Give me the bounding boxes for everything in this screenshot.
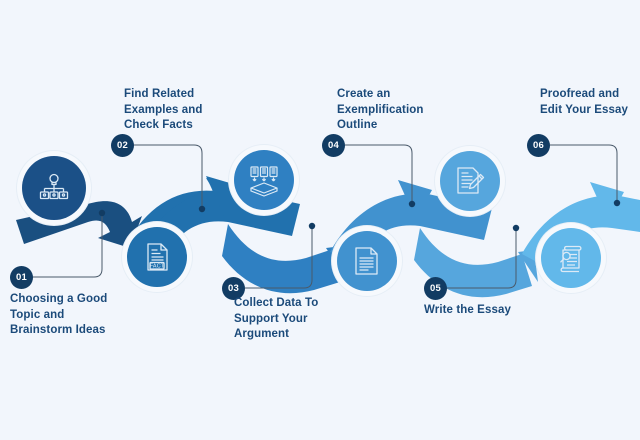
step-badge-01[interactable]: 01 — [10, 266, 33, 289]
outline-document-icon — [352, 246, 382, 276]
step-badge-05[interactable]: 05 — [424, 277, 447, 300]
connector-01 — [27, 213, 102, 277]
connector-02 — [133, 145, 202, 209]
step-badge-04-text: 04 — [328, 140, 339, 151]
step-label-01: Choosing a Good Topic and Brainstorm Ide… — [10, 292, 122, 339]
step-label-02: Find Related Examples and Check Facts — [124, 87, 224, 134]
exemplification-essay-infographic: FACT — [0, 0, 640, 440]
data-collection-books-icon — [247, 163, 281, 197]
connector-03 — [245, 226, 312, 288]
step-node-04[interactable] — [337, 231, 397, 291]
connector-04 — [345, 145, 412, 204]
step-badge-06-text: 06 — [533, 140, 544, 151]
step-badge-04[interactable]: 04 — [322, 134, 345, 157]
step-label-04: Create an Exemplification Outline — [337, 87, 433, 134]
fact-document-icon: FACT — [141, 241, 173, 273]
step-badge-01-text: 01 — [16, 272, 27, 283]
connector-05 — [447, 228, 516, 288]
step-label-06: Proofread and Edit Your Essay — [540, 87, 632, 118]
write-document-pencil-icon — [454, 165, 486, 197]
step-label-05: Write the Essay — [424, 303, 514, 319]
step-badge-02[interactable]: 02 — [111, 134, 134, 157]
step-node-02[interactable]: FACT — [127, 227, 187, 287]
step-badge-02-text: 02 — [117, 140, 128, 151]
connector-lines — [0, 0, 640, 440]
connector-endpoint-dots — [99, 200, 620, 231]
step-badge-06[interactable]: 06 — [527, 134, 550, 157]
infographic-stage: FACT — [0, 0, 640, 440]
proofread-magnifier-icon — [555, 242, 587, 274]
step-node-01[interactable] — [22, 156, 86, 220]
connector-06 — [550, 145, 617, 203]
step-node-06[interactable] — [541, 228, 601, 288]
step-label-03: Collect Data To Support Your Argument — [234, 296, 330, 343]
step-node-03[interactable] — [234, 150, 294, 210]
svg-text:FACT: FACT — [150, 264, 165, 270]
brainstorm-hierarchy-icon — [37, 171, 71, 205]
step-node-05[interactable] — [440, 151, 500, 211]
step-badge-03-text: 03 — [228, 283, 239, 294]
step-badge-05-text: 05 — [430, 283, 441, 294]
